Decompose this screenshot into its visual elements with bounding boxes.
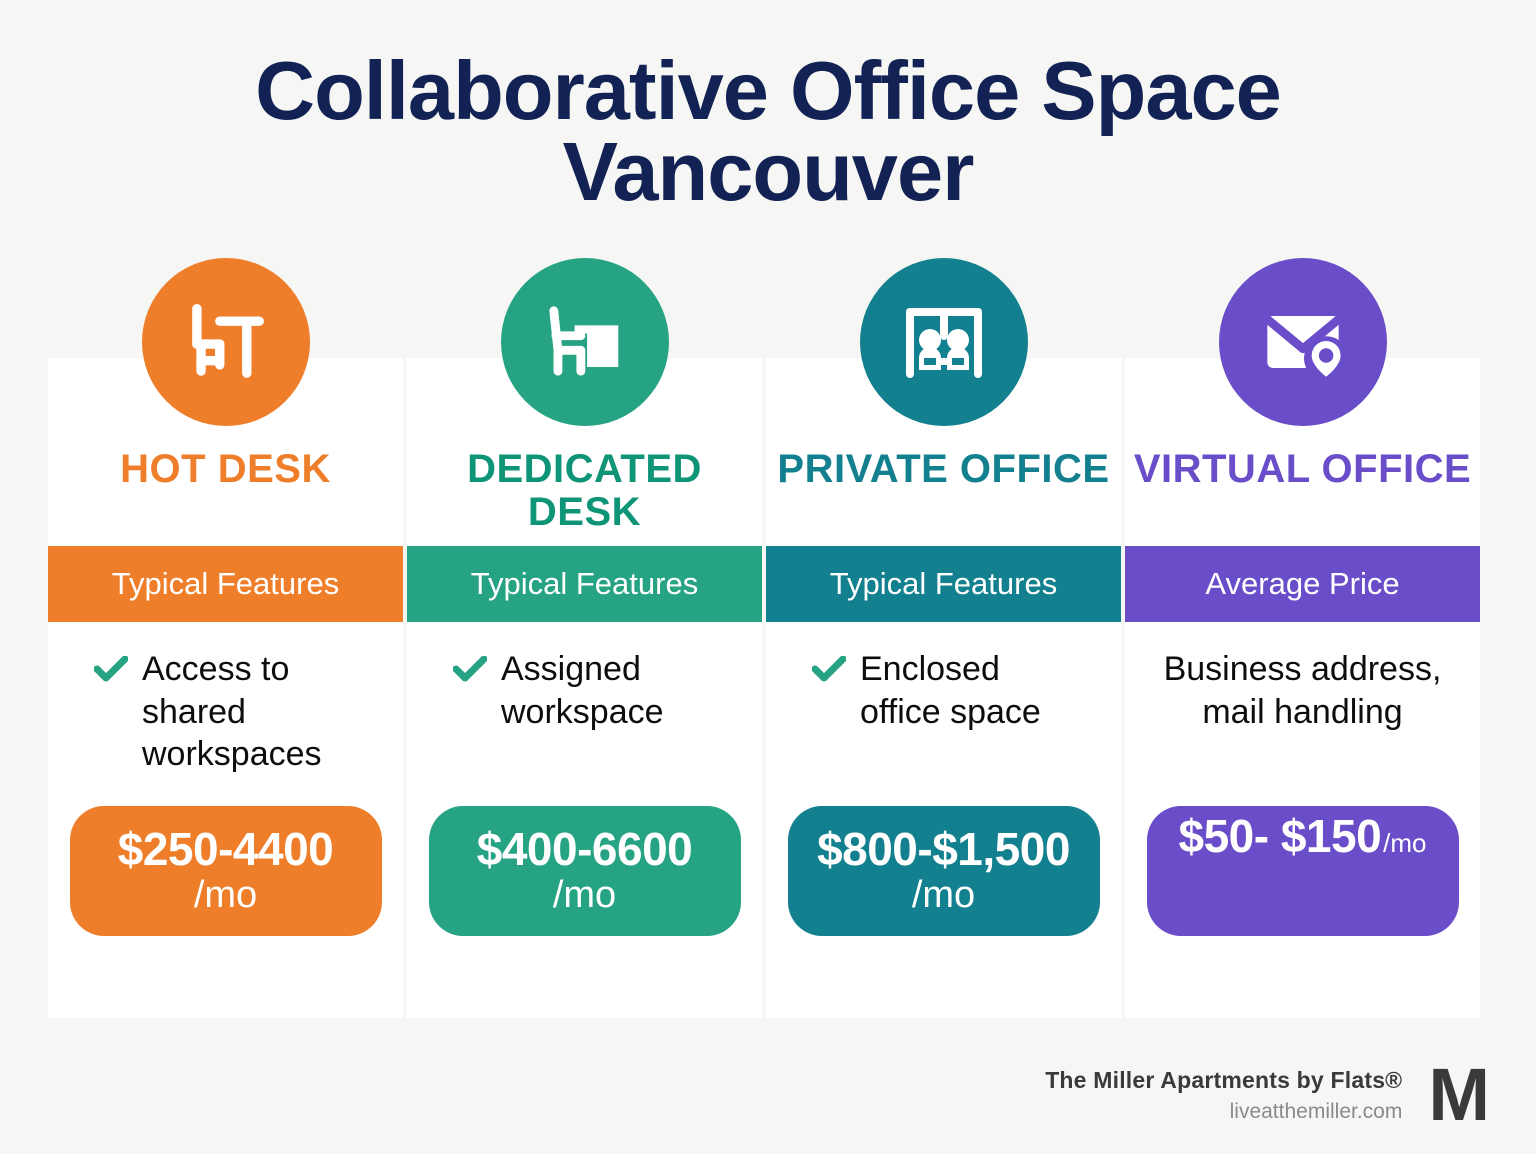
comparison-grid: HOT DESK Typical Features Access to shar… [48, 258, 1488, 936]
dedicated-desk-price-amount: $400-6600 [477, 825, 692, 875]
private-office-band-label: Typical Features [830, 566, 1057, 602]
footer-text-block: The Miller Apartments by Flats® liveatth… [1045, 1067, 1402, 1124]
private-office-price-amount: $800-$1,500 [817, 825, 1070, 875]
column-dedicated-desk: DEDICATED DESK Typical Features Assigned… [407, 258, 762, 936]
hot-desk-price-amount: $250-4400 [118, 825, 333, 875]
private-office-price: $800-$1,500 /mo [788, 806, 1100, 936]
page-title-line-1: Collaborative Office Space [255, 44, 1281, 137]
hot-desk-band-label: Typical Features [112, 566, 339, 602]
virtual-office-price: $50- $150 /mo [1147, 806, 1459, 936]
dedicated-desk-icon-badge [501, 258, 669, 426]
hot-desk-band: Typical Features [48, 546, 403, 622]
dedicated-desk-price: $400-6600 /mo [429, 806, 741, 936]
private-office-feature-row: Enclosed office space [766, 648, 1121, 798]
private-office-icon-badge [860, 258, 1028, 426]
virtual-office-feature-row: Business address, mail handling [1125, 648, 1480, 798]
virtual-office-band: Average Price [1125, 546, 1480, 622]
hot-desk-price-period: /mo [194, 875, 257, 917]
check-icon [453, 656, 487, 688]
private-office-band: Typical Features [766, 546, 1121, 622]
footer-brand-name: The Miller Apartments by Flats® [1045, 1067, 1402, 1094]
virtual-office-title: VIRTUAL OFFICE [1134, 448, 1471, 544]
miller-logo-icon: M [1428, 1066, 1490, 1124]
chair-desk-block-icon [533, 290, 637, 394]
hot-desk-feature-text: Access to shared workspaces [142, 648, 357, 776]
footer: The Miller Apartments by Flats® liveatth… [1045, 1066, 1490, 1124]
check-icon [94, 656, 128, 688]
page-title-line-2: Vancouver [60, 131, 1476, 212]
hot-desk-feature-row: Access to shared workspaces [48, 648, 403, 798]
column-hot-desk: HOT DESK Typical Features Access to shar… [48, 258, 403, 936]
desk-chair-icon [174, 290, 278, 394]
virtual-office-feature-text: Business address, mail handling [1153, 648, 1453, 733]
two-people-room-icon [894, 292, 994, 392]
column-private-office: PRIVATE OFFICE Typical Features Enclosed… [766, 258, 1121, 936]
column-virtual-office: VIRTUAL OFFICE Average Price Business ad… [1125, 258, 1480, 936]
check-icon [812, 656, 846, 688]
dedicated-desk-feature-row: Assigned workspace [407, 648, 762, 798]
hot-desk-icon-badge [142, 258, 310, 426]
dedicated-desk-price-period: /mo [553, 875, 616, 917]
virtual-office-band-label: Average Price [1205, 566, 1399, 602]
hot-desk-price: $250-4400 /mo [70, 806, 382, 936]
envelope-location-pin-icon [1250, 289, 1356, 395]
dedicated-desk-feature-text: Assigned workspace [501, 648, 716, 733]
page-title: Collaborative Office Space Vancouver [60, 0, 1476, 213]
virtual-office-price-amount: $50- $150 [1178, 812, 1381, 862]
dedicated-desk-band-label: Typical Features [471, 566, 698, 602]
dedicated-desk-title: DEDICATED DESK [407, 448, 762, 544]
footer-website-url[interactable]: liveatthemiller.com [1045, 1100, 1402, 1124]
virtual-office-price-period: /mo [1383, 829, 1426, 858]
hot-desk-title: HOT DESK [120, 448, 331, 544]
private-office-price-period: /mo [912, 875, 975, 917]
virtual-office-icon-badge [1219, 258, 1387, 426]
dedicated-desk-band: Typical Features [407, 546, 762, 622]
private-office-feature-text: Enclosed office space [860, 648, 1075, 733]
private-office-title: PRIVATE OFFICE [777, 448, 1109, 544]
